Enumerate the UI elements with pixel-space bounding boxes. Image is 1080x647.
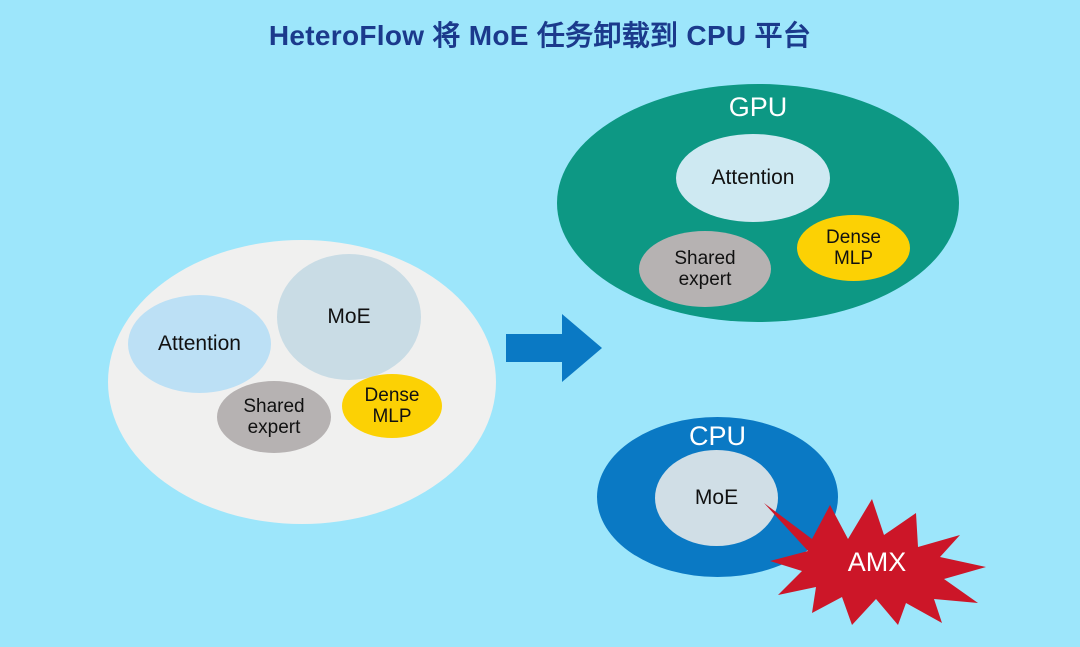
amx-starburst-icon — [764, 495, 986, 625]
source-block-shared-expert-label: Shared expert — [243, 396, 304, 439]
gpu-block-attention: Attention — [676, 134, 830, 222]
gpu-block-dense-mlp: Dense MLP — [797, 215, 910, 281]
offload-arrow-right-icon — [506, 312, 602, 384]
gpu-block-attention-label: Attention — [712, 166, 795, 190]
page-title: HeteroFlow 将 MoE 任务卸载到 CPU 平台 — [0, 14, 1080, 54]
gpu-block-dense-mlp-label: Dense MLP — [826, 227, 881, 270]
gpu-group-title: GPU — [729, 92, 788, 122]
source-block-moe-label: MoE — [327, 305, 370, 329]
source-block-dense-mlp-label: Dense MLP — [365, 385, 420, 428]
gpu-block-shared-expert: Shared expert — [639, 231, 771, 307]
cpu-block-moe: MoE — [655, 450, 778, 546]
diagram-canvas: HeteroFlow 将 MoE 任务卸载到 CPU 平台 Attention … — [0, 0, 1080, 647]
cpu-block-moe-label: MoE — [695, 486, 738, 510]
gpu-block-shared-expert-label: Shared expert — [674, 248, 735, 291]
source-block-moe: MoE — [277, 254, 421, 380]
cpu-group-title: CPU — [689, 421, 746, 451]
source-block-shared-expert: Shared expert — [217, 381, 331, 453]
source-block-dense-mlp: Dense MLP — [342, 374, 442, 438]
source-block-attention-label: Attention — [158, 332, 241, 356]
source-block-attention: Attention — [128, 295, 271, 393]
